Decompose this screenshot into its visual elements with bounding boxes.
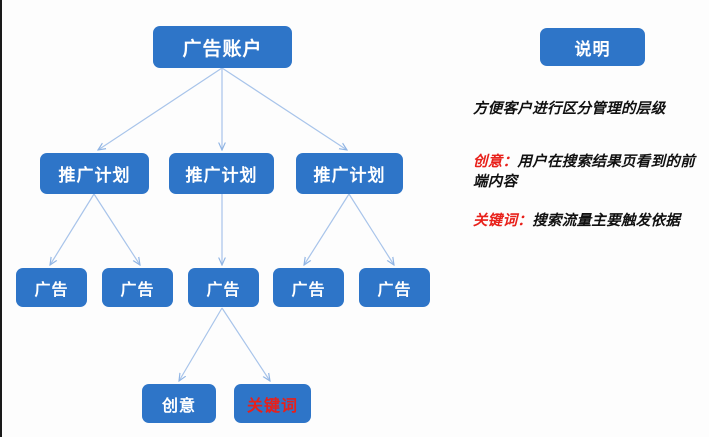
node-ad-5[interactable]: 广告 [359,268,430,307]
edge-root-plan-1 [98,68,222,150]
node-ad-account[interactable]: 广告账户 [153,26,292,68]
node-keyword[interactable]: 关键词 [234,384,311,423]
node-plan-2[interactable]: 推广计划 [169,153,274,194]
node-plan-3[interactable]: 推广计划 [296,153,403,194]
edge-plan3-ad-5 [349,194,394,265]
edge-ad3-leaf-2 [222,308,270,381]
edge-plan1-ad-2 [94,194,140,265]
legend-line-3-body: 搜索流量主要触发依据 [532,213,680,229]
node-ad-2[interactable]: 广告 [102,268,173,307]
node-ad-1[interactable]: 广告 [16,268,87,307]
node-label: 广告账户 [182,34,262,61]
node-label: 推广计划 [186,161,258,186]
legend-line-1: 方便客户进行区分管理的层级 [473,99,705,119]
edge-root-plan-3 [222,68,347,150]
node-creative[interactable]: 创意 [142,384,216,423]
node-label: 创意 [162,392,196,416]
legend-line-1-body: 方便客户进行区分管理的层级 [473,101,665,117]
legend-line-2-accent: 创意： [473,154,517,170]
node-ad-3[interactable]: 广告 [188,268,259,307]
node-label: 推广计划 [59,161,131,186]
node-label: 广告 [291,276,325,300]
legend-header-label: 说明 [575,35,611,60]
edge-ad3-leaf-1 [179,308,222,381]
legend-line-3-accent: 关键词： [473,213,532,229]
legend-header[interactable]: 说明 [540,28,645,66]
node-label: 推广计划 [314,161,386,186]
node-label: 关键词 [247,392,298,416]
legend-line-3: 关键词：搜索流量主要触发依据 [473,211,705,231]
node-label: 广告 [206,276,240,300]
node-label: 广告 [120,276,154,300]
node-plan-1[interactable]: 推广计划 [40,153,149,194]
diagram-canvas: 广告账户 推广计划 推广计划 推广计划 广告 广告 广告 广告 广告 创意 关键… [0,0,709,437]
edge-plan1-ad-1 [50,194,94,265]
node-ad-4[interactable]: 广告 [273,268,344,307]
node-label: 广告 [377,276,411,300]
legend-line-2: 创意：用户在搜索结果页看到的前端内容 [473,152,705,192]
edge-plan3-ad-4 [304,194,349,265]
node-label: 广告 [34,276,68,300]
